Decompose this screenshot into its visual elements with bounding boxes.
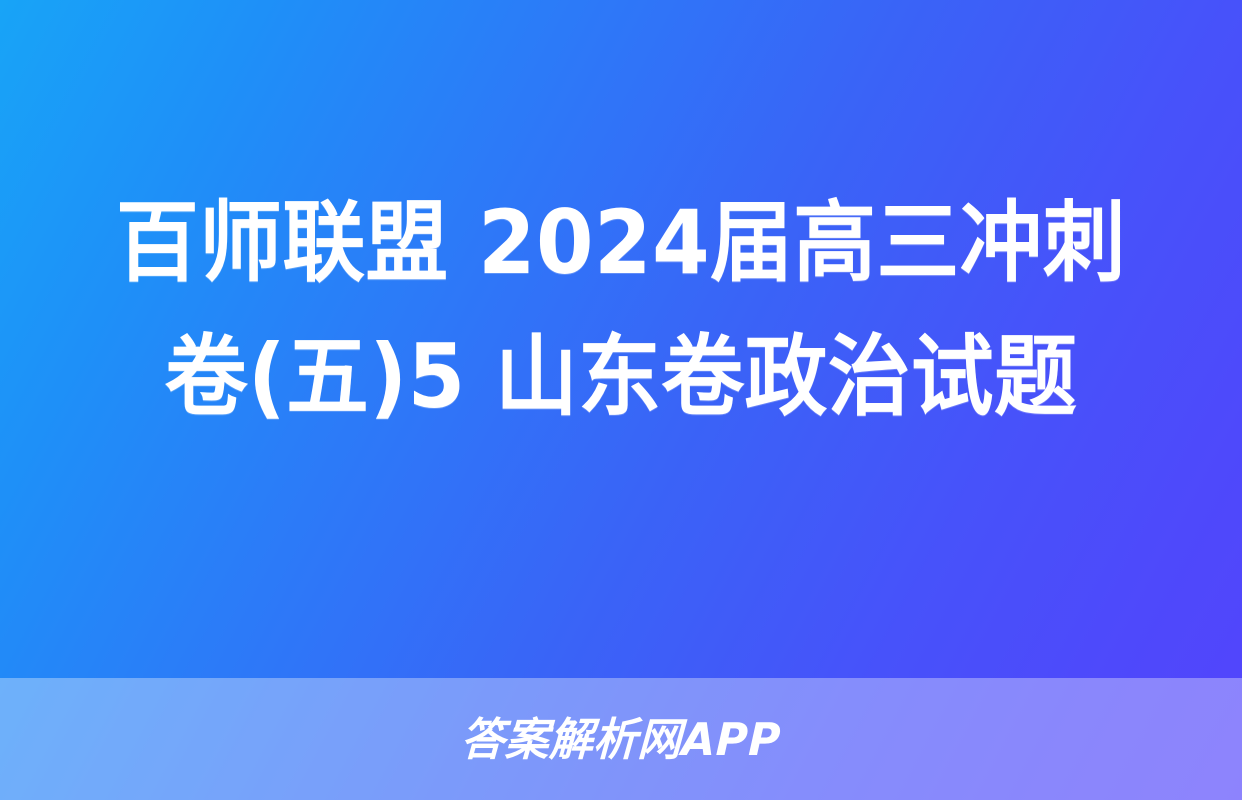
poster-canvas: 百师联盟 2024届高三冲刺卷(五)5 山东卷政治试题 答案解析网APP [0,0,1242,800]
title-block: 百师联盟 2024届高三冲刺卷(五)5 山东卷政治试题 [0,176,1242,444]
page-title: 百师联盟 2024届高三冲刺卷(五)5 山东卷政治试题 [97,176,1144,444]
watermark-band: 答案解析网APP [0,678,1242,800]
app-watermark: 答案解析网APP [460,717,781,762]
